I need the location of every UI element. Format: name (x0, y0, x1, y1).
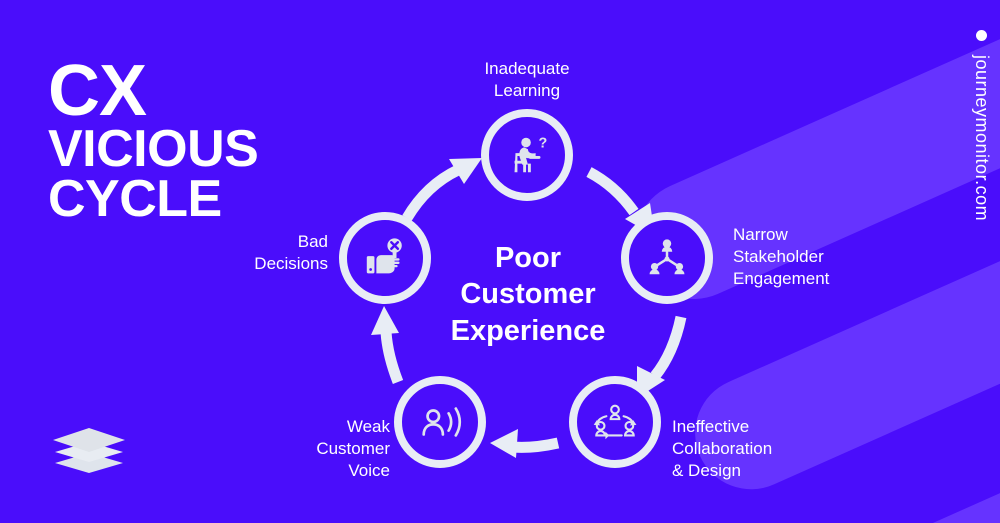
label-line: Narrow (733, 224, 829, 246)
node-label-weak-customer-voice: Weak Customer Voice (290, 416, 390, 482)
hand-pointing-x-icon (362, 235, 408, 281)
center-label: Poor Customer Experience (400, 240, 656, 349)
label-line: Collaboration (672, 438, 772, 460)
label-line: Engagement (733, 268, 829, 290)
center-line-3: Experience (400, 313, 656, 349)
brand-url-block: journeymonitor.com (971, 30, 992, 221)
label-line: Voice (290, 460, 390, 482)
person-at-desk-question-icon: ? (504, 132, 550, 178)
center-line-2: Customer (400, 276, 656, 312)
node-label-inadequate-learning: Inadequate Learning (479, 58, 575, 102)
stacked-layers-icon (48, 422, 130, 484)
node-label-bad-decisions: Bad Decisions (234, 231, 328, 275)
infographic-canvas: CX VICIOUS CYCLE journeymonitor.com (0, 0, 1000, 523)
node-label-ineffective-collaboration-design: Ineffective Collaboration & Design (672, 416, 772, 482)
node-ineffective-collaboration-design[interactable] (569, 376, 661, 468)
svg-text:?: ? (539, 135, 548, 151)
node-narrow-stakeholder-engagement[interactable] (621, 212, 713, 304)
arrow-collaboration-to-voice (490, 429, 558, 458)
label-line: & Design (672, 460, 772, 482)
title-line-1: CX (48, 58, 258, 124)
label-line: Decisions (234, 253, 328, 275)
node-label-narrow-stakeholder-engagement: Narrow Stakeholder Engagement (733, 224, 829, 290)
title-line-2: VICIOUS (48, 126, 258, 174)
label-line: Weak (290, 416, 390, 438)
label-line: Ineffective (672, 416, 772, 438)
label-line: Bad (234, 231, 328, 253)
org-chart-hierarchy-icon (644, 235, 690, 281)
brand-dot-icon (976, 30, 987, 41)
arrow-voice-to-decisions (371, 306, 399, 382)
label-line: Learning (479, 80, 575, 102)
node-weak-customer-voice[interactable] (394, 376, 486, 468)
label-line: Stakeholder (733, 246, 829, 268)
page-title: CX VICIOUS CYCLE (48, 58, 258, 224)
arrow-decisions-to-learning (407, 158, 482, 218)
person-speaking-waves-icon (417, 399, 463, 445)
label-line: Customer (290, 438, 390, 460)
collaboration-cycle-icon (592, 399, 638, 445)
decorative-band-3 (840, 393, 1000, 523)
node-inadequate-learning[interactable]: ? (481, 109, 573, 201)
node-bad-decisions[interactable] (339, 212, 431, 304)
title-line-3: CYCLE (48, 176, 258, 224)
brand-url-text: journeymonitor.com (971, 55, 992, 221)
label-line: Inadequate (479, 58, 575, 80)
center-line-1: Poor (400, 240, 656, 276)
